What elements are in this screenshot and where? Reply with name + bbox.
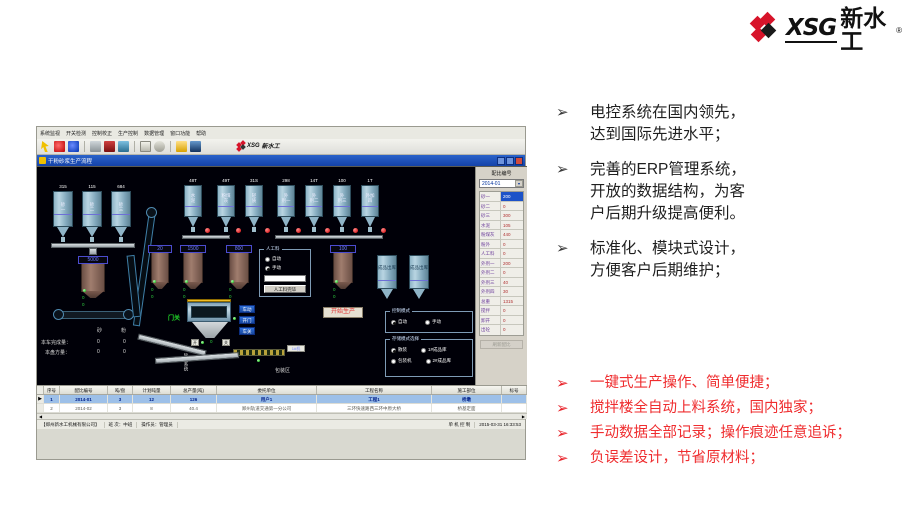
manual-radio-manual-label: 手动 (272, 265, 281, 271)
recipe-row-value: 0 (501, 202, 523, 211)
scale-icon[interactable] (90, 141, 101, 152)
logo-latin-text: XSG (785, 17, 837, 43)
toolbar-logo-latin: XSG (247, 143, 260, 149)
scroll-right-arrow-icon[interactable]: ▶ (522, 414, 527, 419)
bullet-item-red: ➢ 搅拌楼全自动上料系统，国内独家； (556, 398, 906, 419)
weigher-reading: 0 (151, 287, 154, 292)
silo-capacity-label: 315 (53, 184, 73, 189)
recipe-panel-title: 配比编号 (476, 167, 527, 179)
elevator-head-pulley (146, 207, 157, 218)
col-header-project-name[interactable]: 工程名称 (317, 386, 432, 394)
bullet-arrow-icon: ➢ (556, 159, 590, 180)
weigher-reading: 0 (183, 294, 186, 299)
bag-area-label: 包装区 (275, 367, 290, 374)
control-mode-auto[interactable]: 自动 (391, 319, 407, 325)
silo-capacity-label: 48T (184, 178, 202, 183)
valve-led-red (236, 228, 241, 233)
menu-item-switch-test[interactable]: 开关检测 (66, 130, 86, 137)
weigher-reading: 0 (151, 294, 154, 299)
status-company: 【郑州新水工机械有限公司】 (37, 422, 105, 428)
radio-indicator-icon (265, 266, 270, 271)
recipe-row-value: 0 (501, 249, 523, 258)
node-icon[interactable] (54, 141, 65, 152)
recipe-row-value: 200 (501, 259, 523, 268)
status-shift: 班 次：中班 (105, 422, 138, 428)
exit-icon[interactable] (190, 141, 201, 152)
row-marker-column (37, 386, 44, 394)
product-silo-1[interactable]: 成品出库 (377, 255, 397, 299)
table-row[interactable]: 搅拌 0 (480, 306, 523, 316)
radio-indicator-icon (421, 348, 426, 353)
refresh-recipe-button[interactable]: 刷新配比 (480, 340, 523, 349)
bullet-arrow-icon: ➢ (556, 102, 590, 123)
row-marker-column (37, 404, 44, 412)
status-led-green (231, 280, 234, 283)
recipe-row-name: 总重 (480, 297, 501, 306)
recipe-row-name: 水泥 (480, 221, 501, 230)
radio-indicator-icon (391, 320, 396, 325)
cell-seq: 2 (44, 404, 60, 412)
table-row[interactable]: 外剂一 200 (480, 259, 523, 269)
table-row[interactable]: 2 2014-02 3 8 40.4 郑州轨道交通第一分公司 三环快速路西三环中… (37, 404, 527, 413)
manual-material-title: 人工料 (264, 246, 282, 252)
weigher-reading: 0 (82, 295, 85, 300)
radio-indicator-icon (425, 320, 430, 325)
control-mode-title: 控制模式 (390, 308, 412, 314)
table-row[interactable]: 粉煤灰 440 (480, 230, 523, 240)
counter-row-value: 0 (123, 339, 126, 345)
bullet-text-red: 一键式生产操作、简单便捷； (590, 373, 779, 394)
valve-led-red (265, 228, 270, 233)
recipe-row-value: 105 (501, 221, 523, 230)
screw-conveyor (233, 349, 285, 356)
silo-capacity-label: 31S (245, 178, 263, 183)
chevron-down-icon[interactable]: ▾ (515, 180, 523, 187)
status-mode: 单 机 控 制 (444, 422, 475, 428)
cell-seq: 1 (44, 395, 60, 403)
silo-additive-2[interactable]: 14T 外剂二 (305, 185, 323, 232)
status-led-green (185, 280, 188, 283)
silo-left-2[interactable]: 115 砂二 (82, 191, 102, 242)
recipe-row-name: 人工料 (480, 249, 501, 258)
cell-grade (502, 395, 527, 403)
counter-row-label: 本车完成量： (41, 339, 71, 346)
col-header-tons-per-batch[interactable]: 吨/盘 (108, 386, 133, 394)
counter-row-value: 0 (123, 349, 126, 355)
menu-item-production-control[interactable]: 生产控制 (118, 130, 138, 137)
radio-indicator-icon (265, 257, 270, 262)
menu-item-window[interactable]: 窗口功能 (170, 130, 190, 137)
minimize-button[interactable] (497, 157, 505, 165)
control-mode-manual-label: 手动 (432, 319, 441, 325)
valve-led-red (353, 228, 358, 233)
window-icon (39, 157, 46, 164)
powder-manifold-beam (275, 235, 383, 239)
weigher-value: 20 (148, 245, 172, 253)
col-header-client[interactable]: 委托单位 (217, 386, 317, 394)
bullet-text-red: 负误差设计，节省原材料； (590, 448, 764, 469)
recipe-row-value: 440 (501, 230, 523, 239)
manual-material-done-button[interactable]: 人工料完毕 (264, 285, 306, 293)
table-row[interactable]: ▶ 1 2014-01 3 12 126 用户1 工程1 桥墩 (37, 395, 527, 404)
cell-total-output: 126 (171, 395, 217, 403)
silo-cement[interactable]: 48T 水泥 (184, 185, 202, 232)
status-led-green (153, 280, 156, 283)
recipe-row-value: 30 (501, 287, 523, 296)
table-row[interactable]: 砂一 200 (480, 192, 523, 202)
menu-bar: 系统监视 开关检测 控制校正 生产控制 数据管理 窗口功能 帮助 (37, 127, 525, 139)
grid-header-row: 序号 配比编号 吨/盘 计划吨量 总产量(吨) 委托单位 工程名称 施工部位 标… (37, 386, 527, 395)
storage-mode-title: 存储模式选择 (390, 336, 421, 342)
counter-row-label: 本盘方量： (45, 349, 70, 356)
silo-fly-ash[interactable]: 49T 粉煤灰 (217, 185, 235, 232)
storage-mode-bulk[interactable]: 散装 (391, 347, 407, 353)
recipe-row-name: 砂一 (480, 192, 501, 201)
recipe-row-name: 外剂一 (480, 259, 501, 268)
status-led-green (83, 289, 86, 292)
weigher-value: 5000 (78, 256, 108, 264)
cart-move-button[interactable]: 车动 (239, 305, 255, 313)
table-row[interactable]: 粉外 0 (480, 240, 523, 250)
mdi-window-titlebar: 干粉砂浆生产流程 (37, 155, 525, 166)
gate-reading: 0 (210, 339, 213, 344)
silo-capacity-label: 115 (82, 184, 102, 189)
silo-capacity-label: 684 (111, 184, 131, 189)
bullet-item: ➢ 电控系统在国内领先， 达到国际先进水平； (556, 102, 906, 146)
recipe-row-name: 粉煤灰 (480, 230, 501, 239)
sand-weigher-small[interactable]: 20 (151, 251, 169, 283)
recipe-row-name: 外剂三 (480, 278, 501, 287)
bullet-text: 标准化、模块式设计， 方便客户后期维护； (590, 238, 745, 282)
cursor-icon[interactable] (40, 141, 51, 152)
additive-weigher[interactable]: 100 (333, 251, 353, 283)
toolbar: XSG 新水工 (37, 139, 525, 155)
product-silo-label: 成品出库 (410, 265, 428, 270)
brand-logo: XSG 新水工 ® (752, 12, 902, 48)
print-icon[interactable] (154, 141, 165, 152)
radio-indicator-icon (391, 348, 396, 353)
table-row[interactable]: 砂二 0 (480, 202, 523, 212)
xsg-diamond-logo-icon (752, 16, 782, 44)
recipe-row-value: 0 (501, 240, 523, 249)
recipe-row-name: 外剂四 (480, 287, 501, 296)
recipe-row-name: 外剂二 (480, 268, 501, 277)
recipe-row-value: 200 (501, 192, 523, 201)
bullet-arrow-icon: ➢ (556, 423, 590, 444)
silo-capacity-label: 100 (333, 178, 351, 183)
recipe-row-value: 300 (501, 211, 523, 220)
recipe-row-name: 卸开 (480, 316, 501, 325)
powder-manifold-beam (182, 235, 230, 239)
cell-project-name: 工程1 (317, 395, 432, 403)
window-controls (497, 157, 523, 165)
bullet-arrow-icon: ➢ (556, 398, 590, 419)
silo-additive-3[interactable]: 100 外剂三 (333, 185, 351, 232)
storage-mode-bagger-label: 包装机 (398, 358, 412, 364)
manual-radio-manual[interactable]: 手动 (265, 265, 310, 271)
toolbar-separator (84, 141, 85, 152)
conveyor-pulley (53, 309, 64, 320)
bullet-item: ➢ 完善的ERP管理系统， 开放的数据结构，为客 户后期升级提高便利。 (556, 159, 906, 225)
control-mode-manual[interactable]: 手动 (425, 319, 441, 325)
cell-tons-per-batch: 3 (108, 404, 133, 412)
cell-total-output: 40.4 (171, 404, 217, 412)
table-row[interactable]: 水泥 105 (480, 221, 523, 231)
cell-recipe-no: 2014-02 (60, 404, 108, 412)
doc-icon[interactable] (140, 141, 151, 152)
menu-item-control-calibration[interactable]: 控制校正 (92, 130, 112, 137)
cell-grade (502, 404, 527, 412)
toolbar-logo-cn: 新水工 (262, 141, 280, 150)
silo-lightweight[interactable]: 31S 轻质 (245, 185, 263, 232)
col-header-site-part[interactable]: 施工部位 (432, 386, 502, 394)
gate-open-button[interactable]: 开 (191, 339, 199, 346)
xsg-diamond-logo-icon (237, 142, 245, 150)
branch-icon[interactable] (68, 141, 79, 152)
table-row[interactable]: 外剂三 40 (480, 278, 523, 288)
silo-capacity-label: 1T (361, 178, 379, 183)
toolbar-separator (134, 141, 135, 152)
weigher-value: 100 (330, 245, 356, 253)
silo-capacity-label: 49T (217, 178, 235, 183)
mixer-run-led (233, 317, 236, 320)
valve-led-red (205, 228, 210, 233)
weigher-value: 1500 (180, 245, 206, 253)
col-header-seq[interactable]: 序号 (44, 386, 60, 394)
window-title: 干粉砂浆生产流程 (48, 157, 92, 165)
cell-recipe-no: 2014-01 (60, 395, 108, 403)
scada-application-window: 系统监视 开关检测 控制校正 生产控制 数据管理 窗口功能 帮助 (36, 126, 526, 460)
cell-project-name: 三环快速路西三环中原大桥 (317, 404, 432, 412)
logo-chinese-text: 新水工 (840, 7, 893, 53)
weigher-reading: 0 (183, 287, 186, 292)
close-button[interactable] (515, 157, 523, 165)
mixer-drum (187, 302, 231, 322)
recipe-row-name: 砂二 (480, 202, 501, 211)
recipe-row-value: 40 (501, 278, 523, 287)
recipe-row-name: 粉外 (480, 240, 501, 249)
cell-site-part: 桥墩 (432, 395, 502, 403)
recipe-row-value: 1315 (501, 297, 523, 306)
feature-bullet-list: ➢ 电控系统在国内领先， 达到国际先进水平； ➢ 完善的ERP管理系统， 开放的… (556, 102, 906, 295)
cell-planned-tons: 12 (133, 395, 171, 403)
storage-mode-group: 存储模式选择 散装 1#成品库 包装机 (385, 339, 473, 377)
storage-mode-silo1[interactable]: 1#成品库 (421, 347, 447, 353)
table-row[interactable]: 出砼 0 (480, 325, 523, 335)
row-marker-icon: ▶ (37, 395, 44, 403)
screw-conveyor-led (257, 359, 260, 362)
status-led-green (335, 280, 338, 283)
table-row[interactable]: 外剂四 30 (480, 287, 523, 297)
process-mimic-canvas: 315 砂一 115 砂二 684 砂三 (37, 166, 527, 385)
bullet-item-red: ➢ 负误差设计，节省原材料； (556, 448, 906, 469)
menu-item-system-monitor[interactable]: 系统监视 (40, 130, 60, 137)
discharge-hopper (192, 322, 228, 338)
recipe-table: 砂一 200 砂二 0 砂三 300 水泥 105 粉煤灰 440 (479, 191, 524, 336)
mixer-unit[interactable] (187, 299, 231, 322)
valve-led-red (325, 228, 330, 233)
col-header-planned-tons[interactable]: 计划吨量 (133, 386, 171, 394)
gate-close-button[interactable]: 关 (222, 339, 230, 346)
silo-additive-1[interactable]: 298 外剂一 (277, 185, 295, 232)
product-silo-label: 成品出库 (378, 265, 396, 270)
production-orders-grid: 序号 配比编号 吨/盘 计划吨量 总产量(吨) 委托单位 工程名称 施工部位 标… (37, 385, 527, 419)
cart-close-button[interactable]: 车关 (239, 327, 255, 335)
toolbar-separator (170, 141, 171, 152)
storage-mode-bagger[interactable]: 包装机 (391, 358, 412, 364)
weigher-reading: 0 (333, 287, 336, 292)
feed-drop-chute (89, 248, 97, 255)
silo-capacity-label: 14T (305, 178, 323, 183)
recipe-row-name: 出砼 (480, 325, 501, 335)
status-bar: 【郑州新水工机械有限公司】 班 次：中班 操作员：管理员 单 机 控 制 201… (37, 419, 525, 429)
bullet-text: 电控系统在国内领先， 达到国际先进水平； (590, 102, 745, 146)
cell-planned-tons: 8 (133, 404, 171, 412)
cell-tons-per-batch: 3 (108, 395, 133, 403)
cement-weigher[interactable]: 1500 (183, 251, 203, 283)
registered-trademark-icon: ® (896, 26, 902, 35)
toolbar-brand-logo: XSG 新水工 (237, 141, 280, 150)
recipe-row-name: 砂三 (480, 211, 501, 220)
gate-open-cmd-button[interactable]: 开门 (239, 316, 255, 324)
valve-led-red (381, 228, 386, 233)
weigher-value: 800 (226, 245, 252, 253)
menu-item-data-management[interactable]: 数据管理 (144, 130, 164, 137)
valve-led-red (296, 228, 301, 233)
recipe-row-value: 0 (501, 306, 523, 315)
status-operator: 操作员：管理员 (137, 422, 178, 428)
recipe-row-name: 搅拌 (480, 306, 501, 315)
bullet-item: ➢ 标准化、模块式设计， 方便客户后期维护； (556, 238, 906, 282)
recipe-row-value: 0 (501, 325, 523, 335)
manual-material-input[interactable] (264, 275, 306, 282)
counter-header-powder: 粉 (121, 327, 126, 334)
manual-material-group: 人工料 自动 手动 人工料完毕 (259, 249, 311, 297)
status-datetime: 2015-03-31 16:33:53 (475, 422, 525, 427)
table-row[interactable]: 总重 1315 (480, 297, 523, 307)
counter-row-value: 0 (97, 339, 100, 345)
table-row[interactable]: 人工料 0 (480, 249, 523, 259)
start-production-button[interactable]: 开始生产 (323, 307, 363, 318)
screw-conveyor-tag: 1#机 (287, 345, 305, 352)
storage-mode-bulk-label: 散装 (398, 347, 407, 353)
weigher-reading: 0 (333, 294, 336, 299)
aggregate-weigher[interactable]: 5000 (81, 262, 105, 292)
bullet-item-red: ➢ 手动数据全部记录；操作痕迹任意追诉； (556, 423, 906, 444)
cell-client: 用户1 (217, 395, 317, 403)
gate-led-green (201, 341, 204, 344)
recipe-select-value: 2014-01 (482, 181, 500, 187)
highlight-bullet-list: ➢ 一键式生产操作、简单便捷； ➢ 搅拌楼全自动上料系统，国内独家； ➢ 手动数… (556, 373, 906, 473)
maximize-button[interactable] (506, 157, 514, 165)
cell-site-part: 桥基定面 (432, 404, 502, 412)
table-row[interactable]: 卸开 0 (480, 316, 523, 326)
weigher-reading: 0 (229, 287, 232, 292)
radio-indicator-icon (426, 359, 431, 364)
recipe-select[interactable]: 2014-01 ▾ (479, 179, 524, 188)
silo-additive-4[interactable]: 1T 外加四 (361, 185, 379, 232)
menu-item-help[interactable]: 帮助 (196, 130, 206, 137)
control-mode-group: 控制模式 自动 手动 (385, 311, 473, 333)
counter-row-value: 0 (97, 349, 100, 355)
table-row[interactable]: 外剂二 0 (480, 268, 523, 278)
bullet-arrow-icon: ➢ (556, 238, 590, 259)
table-row[interactable]: 砂三 300 (480, 211, 523, 221)
bullet-arrow-icon: ➢ (556, 373, 590, 394)
storage-mode-silo2[interactable]: 2#成品库 (426, 358, 452, 364)
bullet-arrow-icon: ➢ (556, 448, 590, 469)
wrench-icon[interactable] (118, 141, 129, 152)
bullet-text-red: 搅拌楼全自动上料系统，国内独家； (590, 398, 822, 419)
silo-capacity-label: 298 (277, 178, 295, 183)
manual-radio-auto-label: 自动 (272, 256, 281, 262)
manual-radio-auto[interactable]: 自动 (265, 256, 310, 262)
recipe-row-value: 0 (501, 268, 523, 277)
storage-mode-silo2-label: 2#成品库 (433, 358, 452, 364)
col-header-grade[interactable]: 标号 (502, 386, 527, 394)
col-header-recipe-no[interactable]: 配比编号 (60, 386, 108, 394)
counter-header-sand: 砂 (97, 327, 102, 334)
flyash-weigher[interactable]: 800 (229, 251, 249, 283)
silo-left-3[interactable]: 684 砂三 (111, 191, 131, 242)
cell-client: 郑州轨道交通第一分公司 (217, 404, 317, 412)
bullet-item-red: ➢ 一键式生产操作、简单便捷； (556, 373, 906, 394)
help-icon[interactable] (176, 141, 187, 152)
silo-left-1[interactable]: 315 砂一 (53, 191, 73, 242)
product-silo-2[interactable]: 成品出库 (409, 255, 429, 299)
slide-root: XSG 新水工 ® ➢ 电控系统在国内领先， 达到国际先进水平； ➢ 完善的ER… (0, 0, 911, 512)
scroll-left-arrow-icon[interactable]: ◀ (37, 414, 42, 419)
recipe-row-value: 0 (501, 316, 523, 325)
storage-mode-silo1-label: 1#成品库 (428, 347, 447, 353)
radio-indicator-icon (391, 359, 396, 364)
bullet-text: 完善的ERP管理系统， 开放的数据结构，为客 户后期升级提高便利。 (590, 159, 746, 225)
chart-icon[interactable] (104, 141, 115, 152)
conveyor-belt-lower (57, 311, 129, 319)
col-header-total-output[interactable]: 总产量(吨) (171, 386, 217, 394)
control-mode-auto-label: 自动 (398, 319, 407, 325)
recipe-panel: 配比编号 2014-01 ▾ 砂一 200 砂二 0 砂三 300 (475, 167, 527, 385)
weigher-reading: 0 (82, 302, 85, 307)
mixer-gate-status-label: 门关 (168, 313, 180, 322)
bullet-text-red: 手动数据全部记录；操作痕迹任意追诉； (590, 423, 851, 444)
